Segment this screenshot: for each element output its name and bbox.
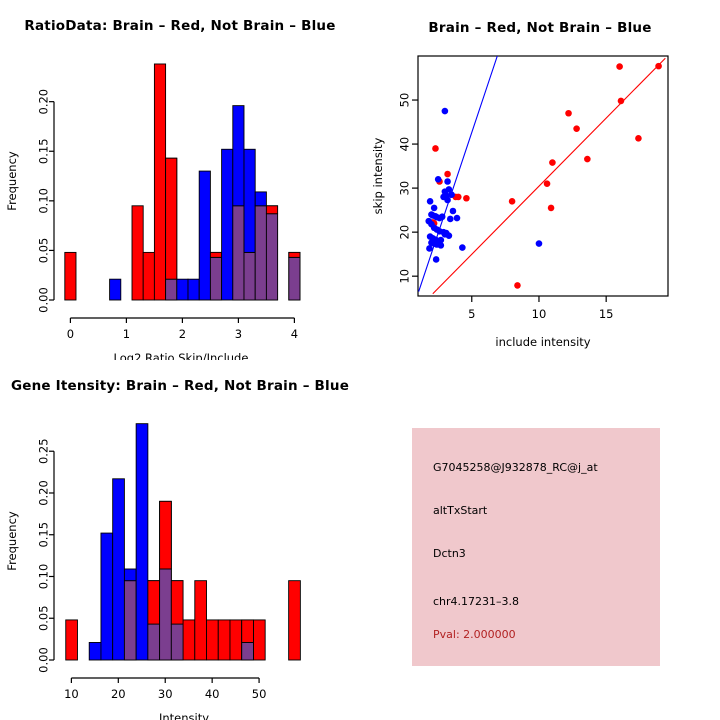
- scatter-plot-area: [419, 56, 666, 294]
- y-axis-tick-label: 0.20: [37, 480, 51, 506]
- scatter-plot: 1020304050skip intensity51015include int…: [360, 0, 720, 360]
- gene-symbol-text: Dctn3: [433, 547, 466, 560]
- x-axis-tick-label: 50: [252, 687, 267, 701]
- histogram-bar: [110, 279, 121, 300]
- histogram-bar: [132, 206, 143, 300]
- y-axis-tick-label: 0.20: [37, 89, 51, 115]
- histogram-bar: [289, 581, 301, 660]
- histogram-bar-overlap: [266, 214, 277, 300]
- histogram-bar-overlap: [166, 279, 177, 300]
- scatter-point: [544, 180, 551, 187]
- histogram-bar: [101, 533, 113, 660]
- x-axis-label: Log2 Ratio Skip/Include: [114, 351, 249, 360]
- histogram-bar: [143, 252, 154, 300]
- scatter-point: [450, 208, 457, 215]
- histogram-bar: [154, 64, 165, 300]
- y-axis-label: Frequency: [5, 151, 19, 211]
- x-axis-tick-label: 4: [291, 327, 298, 341]
- histogram-bar-overlap: [289, 257, 300, 300]
- scatter-point: [565, 110, 572, 117]
- scatter-point: [439, 213, 446, 220]
- histogram-bar: [210, 252, 221, 257]
- scatter-point: [618, 98, 625, 105]
- histogram-bar: [124, 569, 136, 581]
- histogram-bar-overlap: [255, 206, 266, 300]
- scatter-point: [549, 159, 556, 166]
- histogram-bar: [177, 279, 188, 300]
- histogram-bar: [171, 581, 183, 624]
- ratio-plot-area: [65, 64, 300, 300]
- x-axis-label: Intensity: [159, 711, 209, 720]
- histogram-bar: [65, 252, 76, 300]
- scatter-point: [454, 215, 461, 222]
- scatter-point: [573, 125, 580, 132]
- y-axis-tick-label: 0.25: [37, 438, 51, 464]
- histogram-bar: [195, 581, 207, 660]
- pval-text: Pval: 2.000000: [433, 628, 516, 641]
- scatter-point: [432, 145, 439, 152]
- histogram-bar: [255, 192, 266, 206]
- scatter-point: [442, 108, 449, 115]
- histogram-bar: [183, 620, 195, 660]
- x-axis-tick-label: 1: [123, 327, 130, 341]
- histogram-bar: [253, 620, 265, 660]
- y-axis-tick-label: 20: [398, 225, 412, 240]
- scatter-point: [442, 231, 449, 238]
- x-axis-tick-label: 3: [235, 327, 242, 341]
- y-axis-label: skip intensity: [371, 137, 385, 214]
- gene-info-panel: G7045258@J932878_RC@j_at altTxStart Dctn…: [412, 428, 660, 666]
- histogram-bar-overlap: [244, 252, 255, 300]
- x-axis-label: include intensity: [495, 335, 590, 349]
- histogram-bar: [289, 252, 300, 257]
- panel-gene-histogram: Gene Itensity: Brain – Red, Not Brain – …: [0, 360, 360, 720]
- histogram-bar: [266, 206, 277, 214]
- histogram-bar: [244, 149, 255, 252]
- x-axis-tick-label: 5: [468, 307, 475, 321]
- histogram-bar: [199, 171, 210, 300]
- scatter-point: [616, 63, 623, 70]
- gene-histogram-plot: 0.000.050.100.150.200.25Frequency1020304…: [0, 360, 360, 720]
- scatter-title: Brain – Red, Not Brain – Blue: [360, 20, 720, 36]
- y-axis-tick-label: 10: [398, 269, 412, 284]
- gene-histogram-title: Gene Itensity: Brain – Red, Not Brain – …: [0, 378, 360, 394]
- panel-ratio-histogram: RatioData: Brain – Red, Not Brain – Blue…: [0, 0, 360, 360]
- plot-frame: [418, 56, 668, 296]
- histogram-bar-overlap: [124, 581, 136, 660]
- histogram-bar: [160, 501, 172, 569]
- scatter-point: [444, 171, 451, 178]
- ratio-histogram-plot: 0.000.050.100.150.20Frequency01234Log2 R…: [0, 0, 360, 360]
- histogram-bar: [242, 620, 254, 643]
- histogram-bar: [113, 479, 125, 660]
- x-axis-tick-label: 15: [599, 307, 614, 321]
- scatter-point: [433, 256, 440, 263]
- scatter-point: [427, 198, 434, 205]
- x-axis-tick-label: 40: [205, 687, 220, 701]
- histogram-bar: [218, 620, 230, 660]
- scatter-point: [584, 156, 591, 163]
- x-axis-tick-label: 20: [111, 687, 126, 701]
- histogram-bar: [66, 620, 78, 660]
- histogram-bar-overlap: [148, 624, 160, 660]
- y-axis-tick-label: 0.00: [37, 287, 51, 313]
- scatter-point: [459, 244, 466, 251]
- histogram-bar: [188, 279, 199, 300]
- y-axis-label: Frequency: [5, 511, 19, 571]
- y-axis-tick-label: 40: [398, 137, 412, 152]
- scatter-point: [444, 178, 451, 185]
- scatter-point: [463, 195, 470, 202]
- regression-line-not-brain-fit: [419, 56, 498, 292]
- x-axis-tick-label: 2: [179, 327, 186, 341]
- x-axis-tick-label: 10: [532, 307, 547, 321]
- scatter-point: [455, 194, 462, 201]
- histogram-bar-overlap: [233, 206, 244, 300]
- ratio-histogram-title: RatioData: Brain – Red, Not Brain – Blue: [0, 18, 360, 34]
- histogram-bar: [166, 158, 177, 279]
- figure-root: RatioData: Brain – Red, Not Brain – Blue…: [0, 0, 720, 720]
- histogram-bar: [230, 620, 242, 660]
- histogram-bar-overlap: [242, 642, 254, 660]
- scatter-point: [431, 205, 438, 212]
- y-axis-tick-label: 0.05: [37, 605, 51, 631]
- x-axis-tick-label: 0: [67, 327, 74, 341]
- x-axis-tick-label: 30: [158, 687, 173, 701]
- y-axis-tick-label: 0.15: [37, 138, 51, 164]
- scatter-point: [438, 242, 445, 249]
- scatter-point: [444, 197, 451, 204]
- histogram-bar-overlap: [171, 624, 183, 660]
- panel-scatter: Brain – Red, Not Brain – Blue 1020304050…: [360, 0, 720, 360]
- y-axis-tick-label: 50: [398, 93, 412, 108]
- histogram-bar-overlap: [210, 257, 221, 300]
- x-axis-tick-label: 10: [64, 687, 79, 701]
- y-axis-tick-label: 0.10: [37, 188, 51, 214]
- y-axis-tick-label: 30: [398, 181, 412, 196]
- y-axis-tick-label: 0.15: [37, 522, 51, 548]
- histogram-bar: [233, 106, 244, 206]
- scatter-point: [426, 245, 433, 252]
- scatter-point: [509, 198, 516, 205]
- scatter-point: [655, 63, 662, 70]
- event-type-text: altTxStart: [433, 504, 487, 517]
- histogram-bar: [207, 620, 219, 660]
- y-axis-tick-label: 0.10: [37, 564, 51, 590]
- histogram-bar: [89, 642, 101, 660]
- regression-line-brain-fit: [433, 58, 666, 294]
- y-axis-tick-label: 0.00: [37, 647, 51, 673]
- scatter-point: [435, 176, 442, 183]
- histogram-bar-overlap: [160, 569, 172, 660]
- probe-id-text: G7045258@J932878_RC@j_at: [433, 461, 598, 474]
- histogram-bar: [136, 424, 148, 660]
- gene-plot-area: [66, 424, 301, 660]
- histogram-bar: [148, 581, 160, 624]
- scatter-point: [536, 240, 543, 247]
- histogram-bar: [222, 149, 233, 300]
- scatter-point: [635, 135, 642, 142]
- scatter-point: [514, 282, 521, 289]
- y-axis-tick-label: 0.05: [37, 238, 51, 264]
- scatter-point: [447, 216, 454, 223]
- scatter-point: [548, 205, 555, 212]
- locus-text: chr4.17231–3.8: [433, 595, 519, 608]
